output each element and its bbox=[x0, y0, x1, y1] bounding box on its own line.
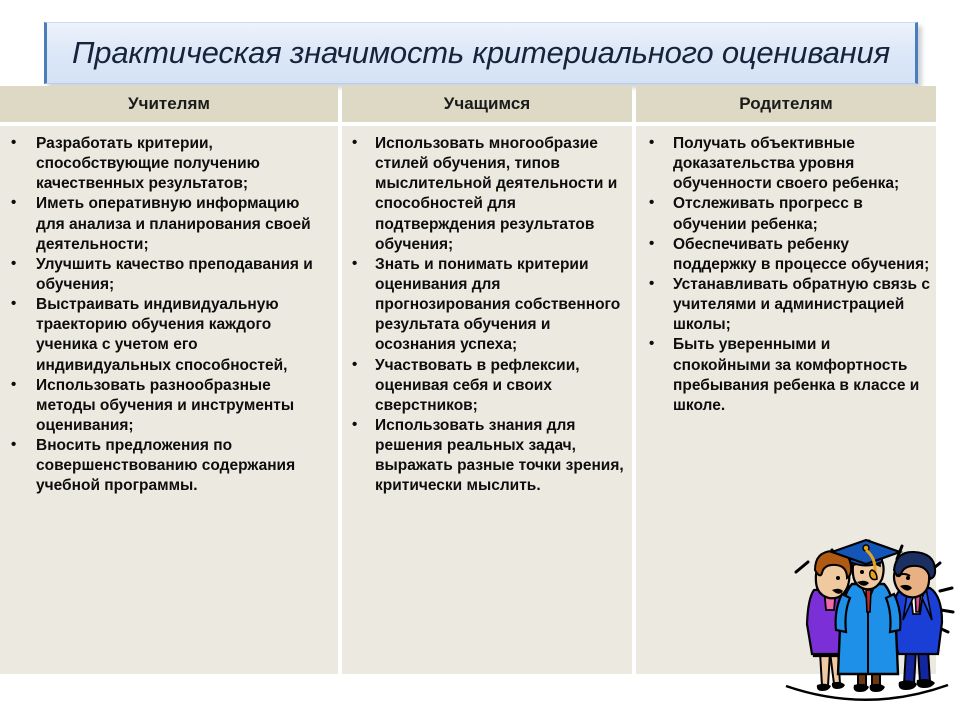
slide-title-box: Практическая значимость критериального о… bbox=[44, 22, 918, 84]
bullet-list-teachers: Разработать критерии, способствующие пол… bbox=[0, 134, 332, 497]
list-item: Получать объективные доказательства уров… bbox=[636, 134, 930, 194]
column-header-label: Родителям bbox=[739, 94, 832, 114]
table-header-row: Учителям Учащимся Родителям bbox=[0, 86, 936, 122]
list-item: Выстраивать индивидуальную траекторию об… bbox=[0, 295, 332, 376]
list-item: Использовать разнообразные методы обучен… bbox=[0, 376, 332, 436]
list-item: Быть уверенными и спокойными за комфортн… bbox=[636, 335, 930, 416]
column-header-label: Учителям bbox=[128, 94, 210, 114]
list-item: Использовать знания для решения реальных… bbox=[342, 416, 626, 497]
list-item: Устанавливать обратную связь с учителями… bbox=[636, 275, 930, 335]
list-item: Использовать многообразие стилей обучени… bbox=[342, 134, 626, 255]
list-item: Вносить предложения по совершенствованию… bbox=[0, 436, 332, 496]
column-header-label: Учащимся bbox=[444, 94, 530, 114]
column-header-students: Учащимся bbox=[342, 86, 632, 122]
list-item: Отслеживать прогресс в обучении ребенка; bbox=[636, 194, 930, 234]
list-item: Участвовать в рефлексии, оценивая себя и… bbox=[342, 356, 626, 416]
page-title: Практическая значимость критериального о… bbox=[72, 35, 890, 71]
column-header-teachers: Учителям bbox=[0, 86, 338, 122]
list-item: Обеспечивать ребенку поддержку в процесс… bbox=[636, 235, 930, 275]
graduate-with-parents-illustration bbox=[772, 528, 960, 720]
table-cell-teachers: Разработать критерии, способствующие пол… bbox=[0, 126, 338, 674]
bullet-list-students: Использовать многообразие стилей обучени… bbox=[342, 134, 626, 497]
list-item: Разработать критерии, способствующие пол… bbox=[0, 134, 332, 194]
list-item: Иметь оперативную информацию для анализа… bbox=[0, 194, 332, 254]
table-cell-students: Использовать многообразие стилей обучени… bbox=[342, 126, 632, 674]
bullet-list-parents: Получать объективные доказательства уров… bbox=[636, 134, 930, 416]
column-header-parents: Родителям bbox=[636, 86, 936, 122]
list-item: Улучшить качество преподавания и обучени… bbox=[0, 255, 332, 295]
list-item: Знать и понимать критерии оценивания для… bbox=[342, 255, 626, 356]
